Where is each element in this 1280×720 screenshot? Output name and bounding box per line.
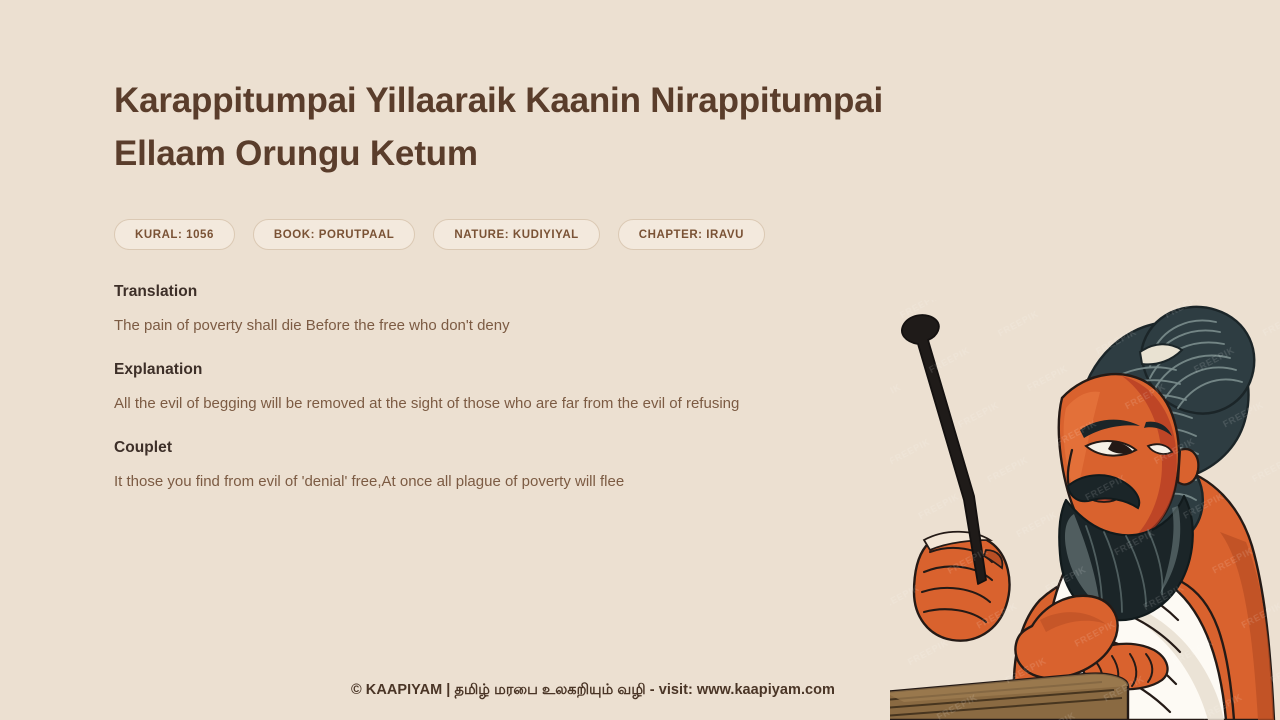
- footer-credit: © KAAPIYAM | தமிழ் மரபை உலகறியும் வழி - …: [0, 682, 1280, 700]
- badge-nature: NATURE: KUDIYIYAL: [433, 219, 599, 250]
- translation-heading: Translation: [114, 283, 934, 301]
- badge-kural: KURAL: 1056: [114, 219, 235, 250]
- couplet-heading: Couplet: [114, 439, 934, 457]
- couplet-text: It those you find from evil of 'denial' …: [114, 471, 934, 492]
- footer-text: © KAAPIYAM | தமிழ் மரபை உலகறியும் வழி - …: [351, 682, 835, 700]
- explanation-heading: Explanation: [114, 361, 934, 379]
- page-title: Karappitumpai Yillaaraik Kaanin Nirappit…: [114, 74, 924, 180]
- badge-chapter: CHAPTER: IRAVU: [618, 219, 765, 250]
- badge-book: BOOK: PORUTPAAL: [253, 219, 415, 250]
- kural-content: Karappitumpai Yillaaraik Kaanin Nirappit…: [114, 74, 934, 492]
- kural-card: FREEPIK: [0, 0, 1280, 720]
- sections: Translation The pain of poverty shall di…: [114, 283, 934, 492]
- section-translation: Translation The pain of poverty shall di…: [114, 283, 934, 336]
- section-couplet: Couplet It those you find from evil of '…: [114, 439, 934, 492]
- badge-row: KURAL: 1056 BOOK: PORUTPAAL NATURE: KUDI…: [114, 219, 934, 250]
- translation-text: The pain of poverty shall die Before the…: [114, 315, 934, 336]
- thiruvalluvar-illustration: FREEPIK: [890, 300, 1280, 720]
- section-explanation: Explanation All the evil of begging will…: [114, 361, 934, 414]
- explanation-text: All the evil of begging will be removed …: [114, 393, 934, 414]
